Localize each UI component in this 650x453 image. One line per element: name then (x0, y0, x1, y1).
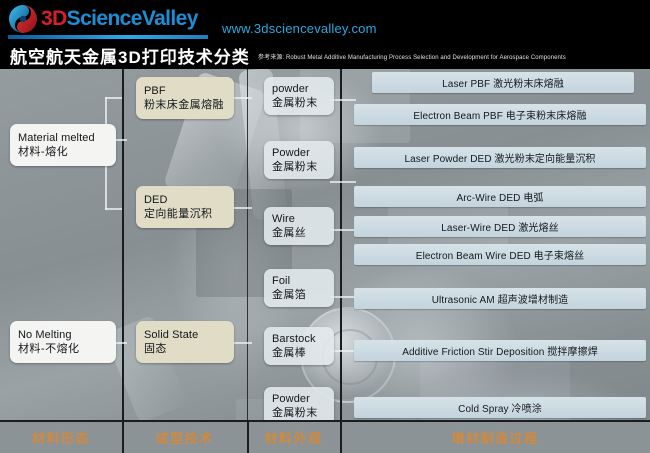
process-laser-wire-ded[interactable]: Laser-Wire DED 激光熔丝 (354, 216, 646, 237)
footer-label-forming-tech: 成型技术 (122, 428, 247, 447)
node-label-en: Material melted (18, 132, 108, 145)
process-laser-powder-ded[interactable]: Laser Powder DED 激光粉末定向能量沉积 (354, 147, 646, 168)
process-cold-spray[interactable]: Cold Spray 冷喷涂 (354, 397, 646, 418)
node-label-cn: 金属棒 (272, 346, 326, 359)
node-label-en: Solid State (144, 329, 226, 342)
node-label-en: Powder (272, 147, 326, 160)
node-label-cn: 金属丝 (272, 226, 326, 239)
node-label-cn: 材料-熔化 (18, 145, 108, 158)
logo-text-3d: 3D (41, 7, 67, 30)
node-barstock[interactable]: Barstock 金属棒 (264, 327, 334, 365)
node-powder-pbf[interactable]: powder 金属粉末 (264, 77, 334, 115)
node-label-en: Foil (272, 275, 326, 288)
header-accent-rule (8, 35, 208, 39)
header-band: 3DScienceValley www.3dsciencevalley.com (0, 0, 650, 45)
reference-source: 参考来源: Robust Metal Additive Manufacturin… (258, 54, 566, 63)
connector-line (105, 208, 122, 210)
process-friction-stir[interactable]: Additive Friction Stir Deposition 搅拌摩擦焊 (354, 340, 646, 361)
column-divider-2 (247, 69, 248, 453)
process-ultrasonic-am[interactable]: Ultrasonic AM 超声波增材制造 (354, 288, 646, 309)
brand-logo[interactable]: 3DScienceValley (8, 2, 198, 36)
footer-label-material-state: 材料形态 (0, 428, 122, 447)
column-divider-3 (340, 69, 342, 453)
node-label-cn: 粉末床金属熔融 (144, 98, 226, 111)
node-label-en: PBF (144, 85, 226, 98)
node-label-en: Wire (272, 213, 326, 226)
reference-text: Robust Metal Additive Manufacturing Proc… (286, 55, 566, 61)
footer-divider-1 (122, 420, 124, 453)
reference-label: 参考来源: (258, 55, 284, 61)
node-label-en: Barstock (272, 333, 326, 346)
node-label-cn: 材料-不熔化 (18, 342, 108, 355)
process-arc-wire-ded[interactable]: Arc-Wire DED 电弧 (354, 186, 646, 207)
node-label-en: DED (144, 194, 226, 207)
page-title: 航空航天金属3D打印技术分类 (10, 47, 250, 68)
node-no-melting[interactable]: No Melting 材料-不熔化 (10, 321, 116, 363)
node-label-en: Powder (272, 393, 326, 406)
process-ebeam-pbf[interactable]: Electron Beam PBF 电子束粉末床熔融 (354, 104, 646, 125)
footer-divider-3 (340, 420, 342, 453)
swirl-logo-icon (8, 4, 38, 34)
node-label-cn: 金属粉末 (272, 96, 326, 109)
diagram-body: Material melted 材料-熔化 No Melting 材料-不熔化 … (0, 69, 650, 453)
column-divider-1 (122, 69, 124, 453)
connector-line (330, 181, 356, 183)
logo-text-sciencevalley: ScienceValley (67, 7, 198, 30)
node-ded[interactable]: DED 定向能量沉积 (136, 186, 234, 228)
node-solid-state[interactable]: Solid State 固态 (136, 321, 234, 363)
process-ebeam-wire-ded[interactable]: Electron Beam Wire DED 电子束熔丝 (354, 244, 646, 265)
connector-line (105, 97, 122, 99)
node-label-en: No Melting (18, 329, 108, 342)
node-label-cn: 金属箔 (272, 288, 326, 301)
node-label-cn: 金属粉末 (272, 160, 326, 173)
node-label-cn: 固态 (144, 342, 226, 355)
node-powder-ded[interactable]: Powder 金属粉末 (264, 141, 334, 179)
node-label-cn: 定向能量沉积 (144, 207, 226, 220)
node-label-en: powder (272, 83, 326, 96)
poster-root: 3DScienceValley www.3dsciencevalley.com … (0, 0, 650, 453)
footer-label-am-process: 增材制造过程 (340, 428, 650, 447)
node-pbf[interactable]: PBF 粉末床金属熔融 (136, 77, 234, 119)
footer-divider-2 (247, 420, 249, 453)
footer-label-material-form: 材料外观 (247, 428, 340, 447)
process-laser-pbf[interactable]: Laser PBF 激光粉末床熔融 (372, 72, 634, 93)
node-material-melted[interactable]: Material melted 材料-熔化 (10, 124, 116, 166)
site-url-link[interactable]: www.3dsciencevalley.com (222, 21, 377, 36)
node-wire[interactable]: Wire 金属丝 (264, 207, 334, 245)
node-foil[interactable]: Foil 金属箔 (264, 269, 334, 307)
node-label-cn: 金属粉末 (272, 406, 326, 419)
